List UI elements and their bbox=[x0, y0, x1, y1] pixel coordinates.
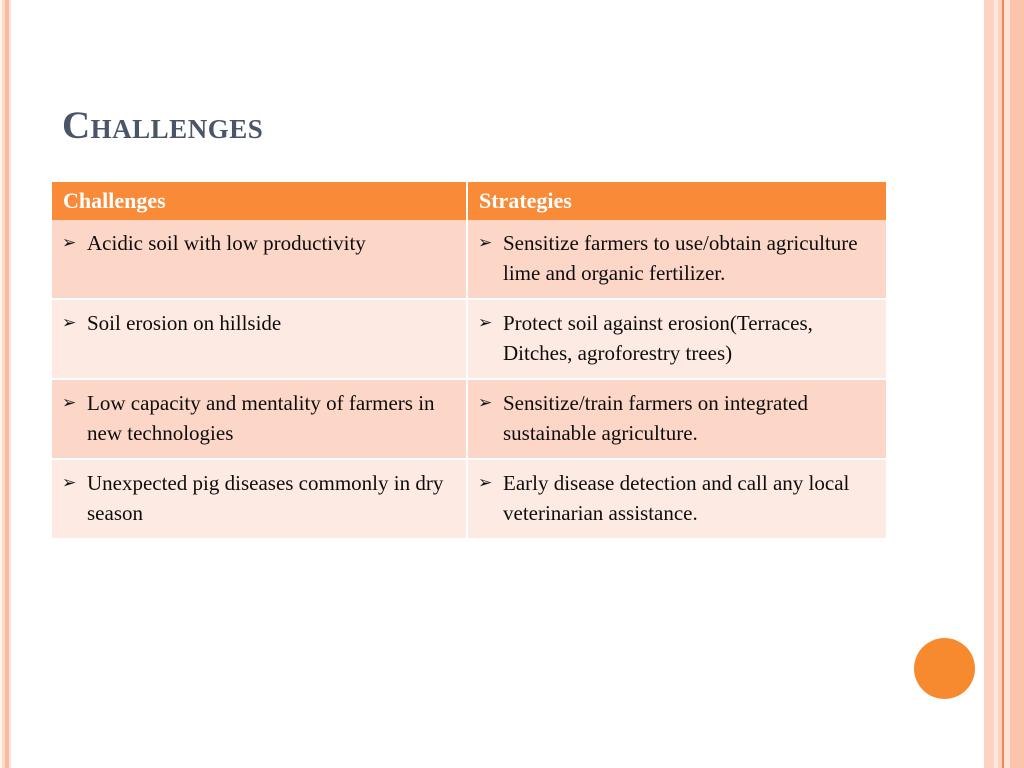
challenge-text: Unexpected pig diseases commonly in dry … bbox=[87, 468, 456, 528]
arrow-bullet-icon: ➢ bbox=[62, 388, 78, 418]
left-edge-stripe-4 bbox=[9, 0, 11, 768]
cell-strategy: ➢ Sensitize farmers to use/obtain agricu… bbox=[468, 220, 886, 300]
challenge-text: Soil erosion on hillside bbox=[87, 308, 456, 338]
bullet-item: ➢ Unexpected pig diseases commonly in dr… bbox=[62, 468, 456, 528]
column-header-strategies: Strategies bbox=[468, 182, 886, 220]
arrow-bullet-icon: ➢ bbox=[62, 468, 78, 498]
table-header-row: Challenges Strategies bbox=[52, 182, 886, 220]
bullet-item: ➢ Acidic soil with low productivity bbox=[62, 228, 456, 258]
bullet-item: ➢ Sensitize farmers to use/obtain agricu… bbox=[478, 228, 876, 288]
page-title: Challenges bbox=[62, 104, 263, 148]
strategy-text: Sensitize farmers to use/obtain agricult… bbox=[503, 228, 876, 288]
right-edge-stripe-6 bbox=[1010, 0, 1024, 768]
challenge-text: Low capacity and mentality of farmers in… bbox=[87, 388, 456, 448]
table-row: ➢ Soil erosion on hillside ➢ Protect soi… bbox=[52, 300, 886, 380]
bullet-item: ➢ Early disease detection and call any l… bbox=[478, 468, 876, 528]
left-edge-stripe-1 bbox=[0, 0, 2, 768]
bullet-item: ➢ Sensitize/train farmers on integrated … bbox=[478, 388, 876, 448]
left-edge-stripe-2 bbox=[2, 0, 5, 768]
challenges-strategies-table: Challenges Strategies ➢ Acidic soil with… bbox=[52, 182, 886, 538]
table-row: ➢ Unexpected pig diseases commonly in dr… bbox=[52, 460, 886, 538]
bullet-item: ➢ Soil erosion on hillside bbox=[62, 308, 456, 338]
right-edge-stripe-1 bbox=[984, 0, 994, 768]
right-edge-stripe-3 bbox=[998, 0, 1002, 768]
arrow-bullet-icon: ➢ bbox=[62, 308, 78, 338]
arrow-bullet-icon: ➢ bbox=[62, 228, 78, 258]
strategy-text: Sensitize/train farmers on integrated su… bbox=[503, 388, 876, 448]
cell-strategy: ➢ Early disease detection and call any l… bbox=[468, 460, 886, 538]
cell-challenge: ➢ Acidic soil with low productivity bbox=[52, 220, 468, 300]
arrow-bullet-icon: ➢ bbox=[478, 228, 494, 258]
column-header-challenges: Challenges bbox=[52, 182, 468, 220]
orange-circle-decoration bbox=[914, 638, 975, 699]
slide-canvas: Challenges Challenges Strategies ➢ Acidi… bbox=[0, 0, 1024, 768]
table-row: ➢ Acidic soil with low productivity ➢ Se… bbox=[52, 220, 886, 300]
bullet-item: ➢ Low capacity and mentality of farmers … bbox=[62, 388, 456, 448]
right-edge-stripe-5 bbox=[1004, 0, 1010, 768]
challenge-text: Acidic soil with low productivity bbox=[87, 228, 456, 258]
strategy-text: Early disease detection and call any loc… bbox=[503, 468, 876, 528]
arrow-bullet-icon: ➢ bbox=[478, 388, 494, 418]
strategy-text: Protect soil against erosion(Terraces, D… bbox=[503, 308, 876, 368]
cell-challenge: ➢ Unexpected pig diseases commonly in dr… bbox=[52, 460, 468, 538]
right-edge-stripe-2 bbox=[994, 0, 998, 768]
cell-challenge: ➢ Soil erosion on hillside bbox=[52, 300, 468, 380]
left-edge-stripe-3 bbox=[5, 0, 9, 768]
bullet-item: ➢ Protect soil against erosion(Terraces,… bbox=[478, 308, 876, 368]
arrow-bullet-icon: ➢ bbox=[478, 468, 494, 498]
arrow-bullet-icon: ➢ bbox=[478, 308, 494, 338]
table-row: ➢ Low capacity and mentality of farmers … bbox=[52, 380, 886, 460]
right-edge-stripe-4 bbox=[1002, 0, 1004, 768]
cell-strategy: ➢ Protect soil against erosion(Terraces,… bbox=[468, 300, 886, 380]
cell-challenge: ➢ Low capacity and mentality of farmers … bbox=[52, 380, 468, 460]
cell-strategy: ➢ Sensitize/train farmers on integrated … bbox=[468, 380, 886, 460]
